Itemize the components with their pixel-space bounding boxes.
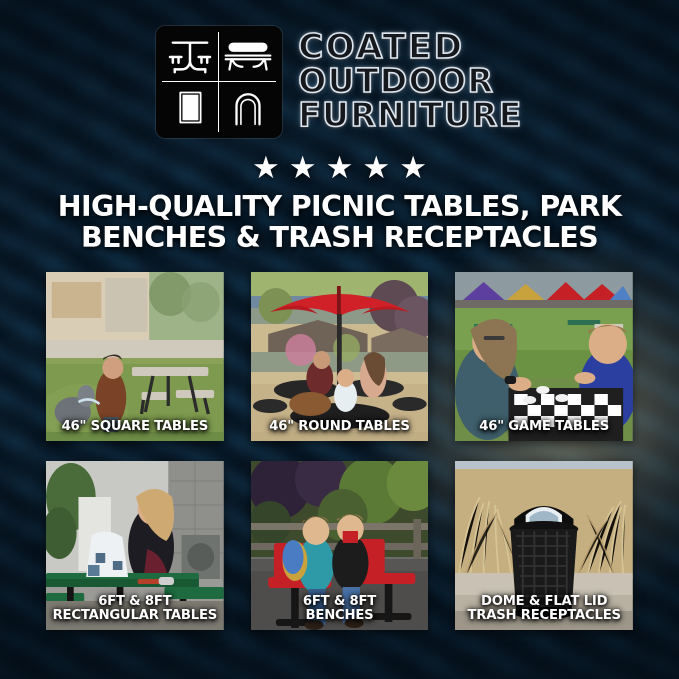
- headline-line-1: HIGH-QUALITY PICNIC TABLES, PARK: [58, 190, 622, 223]
- product-tile-game-tables[interactable]: 46" GAME TABLES: [455, 272, 633, 441]
- star-icon: ★: [326, 152, 354, 183]
- tile-caption-line-1: 46" GAME TABLES: [479, 419, 609, 434]
- tile-caption: 46" SQUARE TABLES: [46, 420, 224, 434]
- round-tables-photo: [251, 272, 429, 441]
- tile-caption: DOME & FLAT LID TRASH RECEPTACLES: [455, 595, 633, 623]
- banner-content: COATED OUTDOOR FURNITURE ★★★★★ HIGH-QUAL…: [0, 0, 679, 679]
- tile-caption-line-2: BENCHES: [255, 609, 425, 623]
- product-tile-square-tables[interactable]: 46" SQUARE TABLES: [46, 272, 224, 441]
- logo-mark: [156, 26, 282, 138]
- star-icon: ★: [289, 152, 317, 183]
- tile-caption-line-1: DOME & FLAT LID: [481, 594, 607, 609]
- product-tile-trash-receptacles[interactable]: DOME & FLAT LID TRASH RECEPTACLES: [455, 461, 633, 630]
- bike-rack-arch-icon: [219, 82, 276, 132]
- trash-receptacle-icon: [162, 82, 219, 132]
- brand-wordmark: COATED OUTDOOR FURNITURE: [298, 31, 523, 133]
- tile-caption-line-1: 6FT & 8FT: [98, 594, 171, 609]
- star-icon: ★: [252, 152, 280, 183]
- star-rating: ★★★★★: [252, 152, 427, 183]
- picnic-table-icon: [162, 32, 219, 82]
- tile-caption-line-2: TRASH RECEPTACLES: [459, 609, 629, 623]
- product-tile-rectangular-tables[interactable]: 6FT & 8FT RECTANGULAR TABLES: [46, 461, 224, 630]
- tile-caption-line-2: RECTANGULAR TABLES: [50, 609, 220, 623]
- tile-caption: 6FT & 8FT BENCHES: [251, 595, 429, 623]
- park-bench-icon: [219, 32, 276, 82]
- brand-logo-lockup[interactable]: COATED OUTDOOR FURNITURE: [156, 26, 523, 138]
- star-icon: ★: [399, 152, 427, 183]
- tile-caption-line-1: 46" ROUND TABLES: [269, 419, 409, 434]
- ad-banner-canvas: COATED OUTDOOR FURNITURE ★★★★★ HIGH-QUAL…: [0, 0, 679, 679]
- tile-caption-line-1: 46" SQUARE TABLES: [62, 419, 209, 434]
- tile-caption: 46" GAME TABLES: [455, 420, 633, 434]
- wordmark-line-furniture: FURNITURE: [298, 99, 523, 131]
- square-tables-photo: [46, 272, 224, 441]
- star-icon: ★: [362, 152, 390, 183]
- game-tables-photo: [455, 272, 633, 441]
- product-tile-benches[interactable]: 6FT & 8FT BENCHES: [251, 461, 429, 630]
- tile-caption: 6FT & 8FT RECTANGULAR TABLES: [46, 595, 224, 623]
- product-tile-round-tables[interactable]: 46" ROUND TABLES: [251, 272, 429, 441]
- wordmark-line-coated: COATED: [298, 31, 523, 64]
- tile-caption-line-1: 6FT & 8FT: [303, 594, 376, 609]
- headline-line-2: BENCHES & TRASH RECEPTACLES: [40, 223, 640, 254]
- page-title: HIGH-QUALITY PICNIC TABLES, PARK BENCHES…: [40, 192, 640, 254]
- wordmark-line-outdoor: OUTDOOR: [298, 65, 523, 97]
- tile-caption: 46" ROUND TABLES: [251, 420, 429, 434]
- product-tile-grid: 46" SQUARE TABLES: [46, 272, 633, 630]
